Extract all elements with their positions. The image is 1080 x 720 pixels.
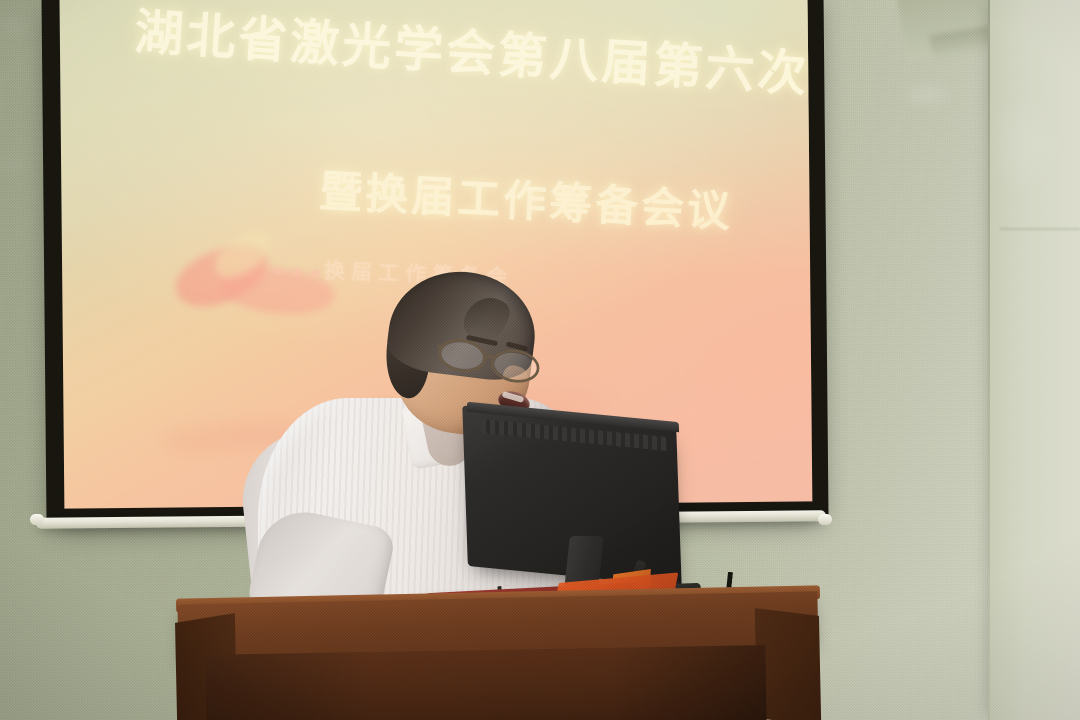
podium-shading <box>205 645 766 720</box>
screen-roller-cap <box>30 514 44 525</box>
slide-title-line-1: 湖北省激光学会第八届第六次理事会 <box>133 0 813 116</box>
wall-column-edge <box>988 0 990 720</box>
wall-highlight <box>905 88 947 102</box>
wall-highlight <box>0 22 26 32</box>
wall-highlight <box>0 160 28 168</box>
slide-title-line-2: 暨换届工作筹备会议 <box>318 157 735 240</box>
photo-scene: 湖北省激光学会第八届第六次理事会 暨换届工作筹备会议 ★★★ 换届工作筹备会 <box>0 0 1080 720</box>
wall-highlight <box>1000 110 1046 180</box>
wall-column <box>988 0 1080 720</box>
screen-roller-cap <box>818 514 832 525</box>
wall-seam <box>1000 228 1080 230</box>
